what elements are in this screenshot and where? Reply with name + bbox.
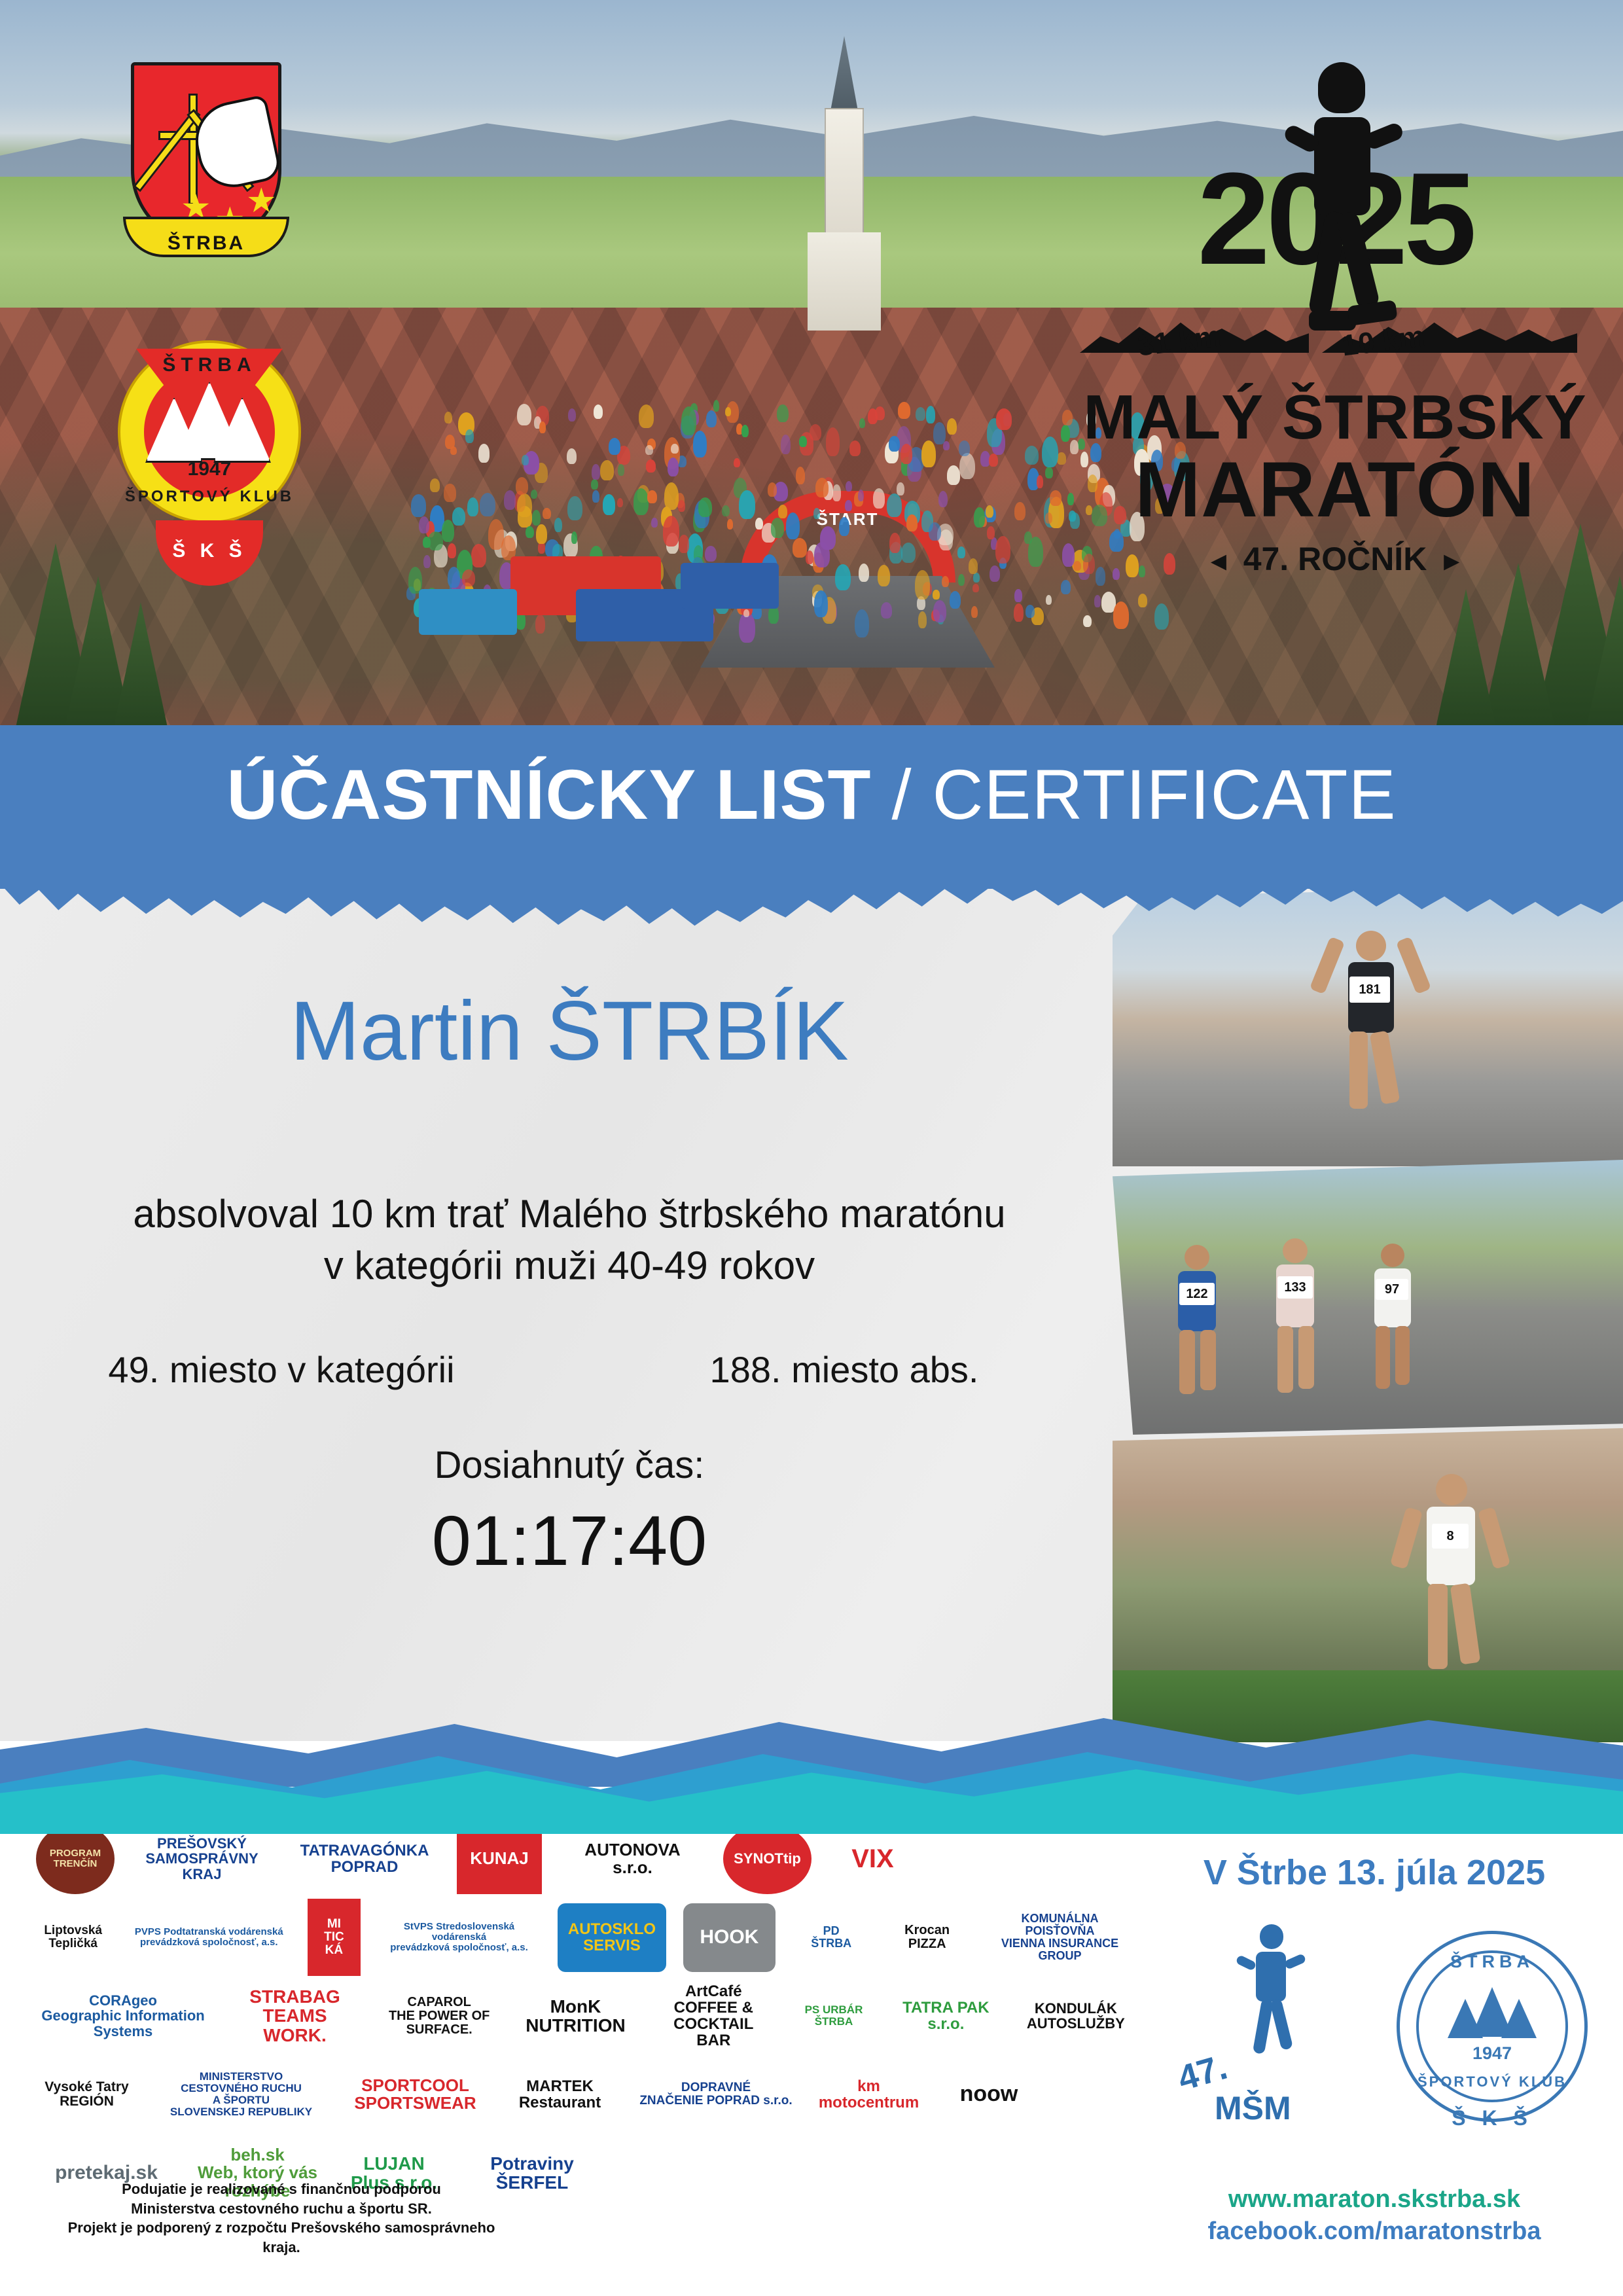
crowd-person — [725, 407, 732, 416]
distance-long-label: 31 km — [1135, 319, 1222, 363]
crowd-person — [488, 519, 504, 550]
runner-figure-2: 122 — [1158, 1245, 1237, 1408]
crowd-person — [958, 574, 965, 586]
certificate-title: ÚČASTNÍCKY LIST / CERTIFICATE — [0, 759, 1623, 830]
sponsor-logo-synot-tip: SYNOTtip — [723, 1823, 811, 1894]
sponsor-logo-mitick: MI TIC KÁ — [308, 1899, 360, 1976]
runner-figure-1: 181 — [1315, 931, 1427, 1140]
crowd-person — [594, 404, 603, 419]
photo-collage: 181 122 133 97 MALÝ ŠTRBSKÝ MARAT — [1113, 885, 1623, 1742]
crowd-person — [873, 488, 885, 509]
sponsor-grid: PROGRAM TRENČÍNPREŠOVSKÝ SAMOSPRÁVNY KRA… — [36, 1820, 1135, 2225]
sponsor-logo-pvps-podtatransk-vod-rensk: PVPS Podtatranská vodárenská prevádzková… — [127, 1899, 291, 1976]
crowd-person — [743, 609, 749, 617]
description-line-2: v kategórii muži 40-49 rokov — [0, 1240, 1139, 1291]
crowd-person — [959, 440, 971, 456]
sponsor-logo-komun-lna-pois-ov-a: KOMUNÁLNA POISŤOVŇA VIENNA INSURANCE GRO… — [984, 1899, 1135, 1976]
sponsor-logo-autosklo-servis: AUTOSKLO SERVIS — [558, 1903, 666, 1972]
arrow-left-icon: ◄ — [1205, 547, 1232, 577]
sks-abbr: Š K Š — [1387, 2106, 1597, 2130]
bib-number-1: 181 — [1349, 977, 1390, 1003]
crowd-person — [693, 431, 707, 457]
crowd-person — [651, 518, 658, 528]
sponsor-logo-po-nohospod-rske-dru-stvo-trba: PD ŠTRBA — [793, 1899, 870, 1976]
crowd-person — [1083, 615, 1092, 627]
funding-disclaimer: Podujatie je realizované s finančnou pod… — [59, 2179, 504, 2257]
crowd-person — [428, 531, 442, 551]
club-year: 1947 — [105, 458, 314, 480]
sponsor-logo-pre-ovsk-samospr-vny-kraj: PREŠOVSKÝ SAMOSPRÁVNY KRAJ — [132, 1823, 272, 1894]
crowd-person — [639, 404, 654, 428]
msm-runner-icon — [1234, 1924, 1312, 2062]
crowd-person — [722, 505, 730, 517]
crowd-person — [554, 518, 562, 532]
crowd-person — [465, 429, 473, 443]
msm-abbr: MŠM — [1215, 2089, 1291, 2127]
disclaimer-line-3: Projekt je podporený z rozpočtu Prešovsk… — [59, 2218, 504, 2257]
crowd-person — [942, 576, 949, 587]
crowd-person — [990, 565, 1000, 583]
event-edition-label: 47. ROČNÍK — [1243, 541, 1427, 577]
crowd-person — [845, 500, 851, 511]
time-label: Dosiahnutý čas: — [0, 1443, 1139, 1487]
msm-47-logo: 47. MŠM — [1171, 1924, 1368, 2140]
crowd-person — [901, 444, 912, 464]
crowd-person — [478, 444, 490, 462]
sponsor-logo-autonova-s-r-o: AUTONOVA s.r.o. — [559, 1823, 706, 1894]
crowd-person — [480, 493, 495, 516]
crowd-person — [813, 508, 820, 519]
sponsor-logo-noow: noow — [940, 2056, 1038, 2133]
crowd-person — [543, 508, 550, 519]
crowd-person — [771, 518, 785, 538]
crowd-person — [664, 482, 679, 510]
crowd-person — [600, 460, 614, 481]
arrow-right-icon: ► — [1438, 547, 1465, 577]
crowd-person — [671, 444, 679, 454]
crowd-person — [442, 520, 454, 542]
crowd-person — [617, 498, 623, 508]
crest-banner: ŠTRBA — [111, 205, 301, 268]
sks-round-logo: ŠTRBA 1947 ŠPORTOVÝ KLUB Š K Š — [1387, 1924, 1597, 2140]
crowd-person — [793, 538, 807, 557]
crowd-person — [567, 496, 582, 520]
crowd-person — [969, 558, 978, 573]
crowd-person — [815, 478, 829, 497]
sponsor-logo-tatravag-nka-poprad: TATRAVAGÓNKA POPRAD — [289, 1823, 440, 1894]
crowd-person — [777, 404, 788, 423]
crowd-person — [799, 436, 807, 448]
sponsor-logo-tatra-pak-s-r-o: TATRA PAK s.r.o. — [893, 1979, 999, 2053]
bib-number-2: 122 — [1179, 1283, 1215, 1305]
sponsor-logo-stvps-stredoslovensk-vod-rensk: StVPS Stredoslovenská vodárenská prevádz… — [378, 1899, 541, 1976]
crowd-person — [516, 477, 528, 495]
crowd-person — [858, 490, 864, 501]
crowd-person — [897, 482, 904, 495]
sponsor-row: Vysoké Tatry REGIÓNMINISTERSTVO CESTOVNÉ… — [36, 2055, 1135, 2134]
event-logo: 2025 31 km 10 km MALÝ ŠTRBSKÝ MARATÓN ◄4… — [1060, 39, 1610, 609]
sponsor-logo-dopravn-zna-enie-poprad-s-r-o: DOPRAVNÉ ZNAČENIE POPRAD s.r.o. — [634, 2060, 798, 2129]
wave-divider — [0, 1689, 1623, 1820]
participant-name: Martin ŠTRBÍK — [0, 990, 1139, 1073]
crowd-person — [535, 615, 545, 634]
crowd-person — [859, 564, 869, 582]
crowd-person — [995, 536, 1010, 564]
crowd-person — [462, 569, 475, 586]
distance-short-label: 10 km — [1340, 319, 1427, 363]
sk-strba-club-emblem: ŠTRBA 1947 ŠPORTOVÝ KLUB Š K Š — [105, 324, 314, 586]
crowd-person — [989, 454, 998, 467]
certificate-title-band: ÚČASTNÍCKY LIST / CERTIFICATE — [0, 725, 1623, 889]
crowd-person — [681, 406, 696, 435]
club-bottom-text: ŠPORTOVÝ KLUB — [105, 488, 314, 506]
crowd-person — [933, 422, 946, 444]
sponsor-logo-liptovsk-tepli-ka: Liptovská Tepličká — [36, 1899, 110, 1976]
sks-top-text: ŠTRBA — [1387, 1952, 1597, 1972]
crowd-person — [972, 584, 979, 592]
sponsor-logo-strabag: STRABAG TEAMS WORK. — [227, 1979, 363, 2053]
crowd-person — [889, 436, 900, 452]
crowd-person — [1046, 595, 1052, 605]
footer: PROGRAM TRENČÍNPREŠOVSKÝ SAMOSPRÁVNY KRA… — [0, 1813, 1623, 2296]
crowd-person — [739, 490, 755, 519]
crowd-person — [859, 418, 865, 428]
crowd-person — [423, 555, 431, 569]
crowd-person — [810, 424, 821, 440]
contact-links: www.maraton.skstrba.sk facebook.com/mara… — [1139, 2183, 1610, 2248]
crowd-person — [531, 490, 537, 499]
crowd-person — [974, 507, 986, 528]
crowd-person — [741, 425, 749, 438]
sponsor-logo-ps-urb-r-trba: PS URBÁR ŠTRBA — [792, 1979, 876, 2053]
crowd-person — [532, 510, 541, 526]
crowd-person — [846, 481, 852, 492]
event-name-line1: MALÝ ŠTRBSKÝ — [1060, 386, 1610, 449]
crowd-person — [539, 422, 545, 433]
crowd-person — [1037, 475, 1043, 488]
crowd-person — [504, 490, 516, 509]
crowd-person — [786, 512, 800, 539]
disclaimer-line-1: Podujatie je realizované s finančnou pod… — [59, 2179, 504, 2199]
event-tent-3 — [681, 563, 779, 609]
crowd-person — [938, 491, 948, 507]
crowd-person — [450, 446, 457, 455]
crowd-person — [887, 493, 902, 517]
crowd-person — [1045, 512, 1052, 524]
crowd-person — [933, 590, 939, 600]
crowd-person — [444, 412, 452, 423]
sponsor-logo-hook: HOOK — [683, 1903, 776, 1972]
sponsor-logo-corageo: CORAgeo Geographic Information Systems — [36, 1979, 210, 2053]
crowd-person — [603, 494, 616, 515]
crowd-person — [1014, 502, 1026, 520]
crowd-person — [467, 497, 478, 516]
crowd-person — [1042, 437, 1058, 468]
crowd-person — [889, 533, 901, 553]
crowd-person — [713, 400, 719, 412]
crowd-person — [419, 516, 429, 533]
crowd-person — [536, 524, 546, 544]
crowd-person — [957, 547, 965, 558]
crowd-person — [933, 600, 946, 622]
crowd-person — [448, 543, 457, 558]
crowd-person — [916, 407, 925, 421]
crowd-person — [679, 535, 688, 553]
crowd-person — [591, 479, 598, 490]
crowd-person — [471, 544, 486, 567]
crowd-person — [820, 526, 836, 550]
certificate-description: absolvoval 10 km trať Malého štrbského m… — [0, 1188, 1139, 1291]
crowd-person — [971, 606, 978, 618]
crowd-person — [727, 519, 734, 529]
crowd-person — [705, 546, 717, 562]
sponsor-logo-program-tren-n: PROGRAM TRENČÍN — [36, 1823, 115, 1894]
crowd-person — [411, 494, 427, 517]
disclaimer-line-2: Ministerstva cestovného ruchu a športu S… — [59, 2199, 504, 2219]
crowd-person — [996, 408, 1012, 429]
crowd-person — [526, 526, 534, 539]
crowd-person — [592, 464, 599, 480]
crowd-person — [668, 457, 679, 476]
crowd-person — [663, 516, 679, 547]
sponsor-logo-artcaf: ArtCafé COFFEE & COCKTAIL BAR — [652, 1979, 775, 2053]
club-abbr: Š K Š — [156, 540, 263, 562]
sponsor-logo-ministerstvo-cestovn-ho-ruchu-a-portu-sr: MINISTERSTVO CESTOVNÉHO RUCHU A ŠPORTU S… — [154, 2056, 328, 2133]
crowd-person — [898, 402, 910, 418]
runner-figure-3: 133 — [1257, 1238, 1335, 1408]
sks-year: 1947 — [1387, 2043, 1597, 2064]
sponsor-logo-sportcool-sportswear: SPORTCOOL SPORTSWEAR — [345, 2056, 486, 2133]
crowd-person — [1014, 589, 1022, 602]
crowd-person — [568, 408, 576, 422]
crowd-person — [959, 453, 975, 480]
sponsor-logo-caparol: CAPAROL THE POWER OF SURFACE. — [380, 1979, 499, 2053]
crowd-person — [755, 518, 763, 529]
crowd-person — [875, 406, 885, 420]
sks-bottom-text: ŠPORTOVÝ KLUB — [1387, 2073, 1597, 2090]
event-tent-4 — [419, 589, 517, 635]
sponsor-row: CORAgeo Geographic Information SystemsST… — [36, 1977, 1135, 2055]
sponsor-logo-vysok-tatry-regi-n: Vysoké Tatry REGIÓN — [36, 2056, 137, 2133]
crowd-person — [1045, 467, 1054, 479]
title-separator: / — [871, 755, 932, 834]
title-light-part: CERTIFICATE — [933, 755, 1397, 834]
description-line-1: absolvoval 10 km trať Malého štrbského m… — [0, 1188, 1139, 1240]
title-bold-part: ÚČASTNÍCKY LIST — [226, 755, 871, 834]
crowd-person — [881, 602, 893, 619]
crowd-person — [517, 404, 531, 426]
crowd-person — [947, 465, 960, 485]
place-absolute: 188. miesto abs. — [641, 1348, 1047, 1391]
bib-number-4: 97 — [1376, 1279, 1408, 1300]
crowd-person — [645, 445, 653, 455]
crowd-person — [768, 482, 777, 497]
website-link[interactable]: www.maraton.skstrba.sk — [1139, 2183, 1610, 2215]
crowd-person — [973, 573, 980, 583]
sponsor-logo-km-motocentrum: km motocentrum — [815, 2056, 923, 2133]
crowd-person — [734, 458, 740, 468]
sponsor-logo-monk-nutrition: MonK NUTRITION — [516, 1979, 635, 2053]
crowd-person — [901, 543, 916, 563]
crowd-person — [618, 464, 624, 476]
distance-ranges: 31 km 10 km — [1060, 298, 1610, 383]
crowd-person — [1025, 446, 1039, 465]
crowd-person — [921, 440, 935, 467]
sponsor-logo-kondul-k-autoslu-by: KONDULÁK AUTOSLUŽBY — [1016, 1979, 1135, 2053]
issue-date: V Štrbe 13. júla 2025 — [1139, 1852, 1610, 1893]
photo-runner-group: 122 133 97 — [1113, 1160, 1623, 1435]
sponsor-logo-krocan-pizza: Krocan PIZZA — [887, 1899, 967, 1976]
crowd-person — [778, 505, 787, 518]
crowd-person — [906, 514, 918, 531]
crowd-person — [855, 609, 869, 637]
crowd-person — [571, 531, 577, 544]
crowd-person — [796, 467, 805, 484]
sponsor-row: Liptovská TepličkáPVPS Podtatranská vodá… — [36, 1898, 1135, 1977]
crowd-person — [706, 410, 717, 427]
crowd-person — [915, 570, 930, 600]
event-name-line2: MARATÓN — [1060, 450, 1610, 529]
crowd-person — [878, 565, 890, 586]
crowd-person — [444, 484, 455, 501]
runner-figure-4: 97 — [1355, 1244, 1433, 1407]
crowd-person — [567, 448, 577, 464]
crowd-person — [1014, 603, 1024, 622]
crest-banner-label: ŠTRBA — [111, 232, 301, 255]
crowd-person — [1026, 605, 1035, 618]
msm-logo-group: 47. MŠM ŠTRBA 1947 ŠPORTOVÝ KLUB Š K Š — [1158, 1918, 1603, 2153]
photo-female-finisher: 181 — [1113, 885, 1623, 1166]
event-edition: ◄47. ROČNÍK► — [1060, 540, 1610, 578]
crowd-person — [926, 406, 935, 423]
crowd-person — [986, 505, 993, 518]
crowd-person — [522, 455, 529, 465]
sponsor-logo-martek-restaurant: MARTEK Restaurant — [503, 2056, 617, 2133]
crowd-person — [452, 507, 465, 526]
crowd-person — [918, 611, 927, 628]
crowd-person — [517, 493, 532, 517]
church-building — [805, 36, 883, 298]
crowd-person — [947, 418, 957, 435]
crowd-person — [646, 459, 656, 473]
sponsor-logo-kunaj: KUNAJ — [457, 1823, 542, 1894]
finish-time: 01:17:40 — [0, 1505, 1139, 1576]
crowd-person — [448, 567, 460, 588]
crowd-person — [849, 440, 861, 456]
crowd-person — [678, 500, 685, 512]
runner-figure-5: 8 — [1394, 1474, 1512, 1710]
crowd-person — [826, 427, 840, 456]
sponsor-logo-vix: VIX — [829, 1823, 917, 1894]
crowd-person — [835, 564, 851, 590]
bib-number-5: 8 — [1432, 1524, 1469, 1549]
crowd-person — [987, 526, 995, 539]
crowd-person — [698, 497, 712, 517]
crowd-person — [814, 590, 829, 617]
crowd-person — [609, 438, 621, 455]
club-top-text: ŠTRBA — [105, 354, 314, 376]
crowd-person — [647, 490, 657, 503]
crowd-person — [943, 441, 949, 450]
strba-coat-of-arms: ★ ★ ★ ŠTRBA — [111, 62, 301, 278]
crowd-person — [929, 522, 941, 541]
crowd-person — [1024, 531, 1031, 544]
crowd-person — [592, 490, 599, 503]
crowd-person — [839, 517, 849, 536]
crowd-person — [950, 591, 961, 609]
facebook-link[interactable]: facebook.com/maratonstrba — [1139, 2215, 1610, 2248]
crowd-person — [781, 435, 791, 454]
place-in-category: 49. miesto v kategórii — [79, 1348, 484, 1391]
crowd-person — [430, 478, 440, 492]
crowd-person — [633, 488, 649, 515]
bib-number-3: 133 — [1277, 1276, 1313, 1299]
